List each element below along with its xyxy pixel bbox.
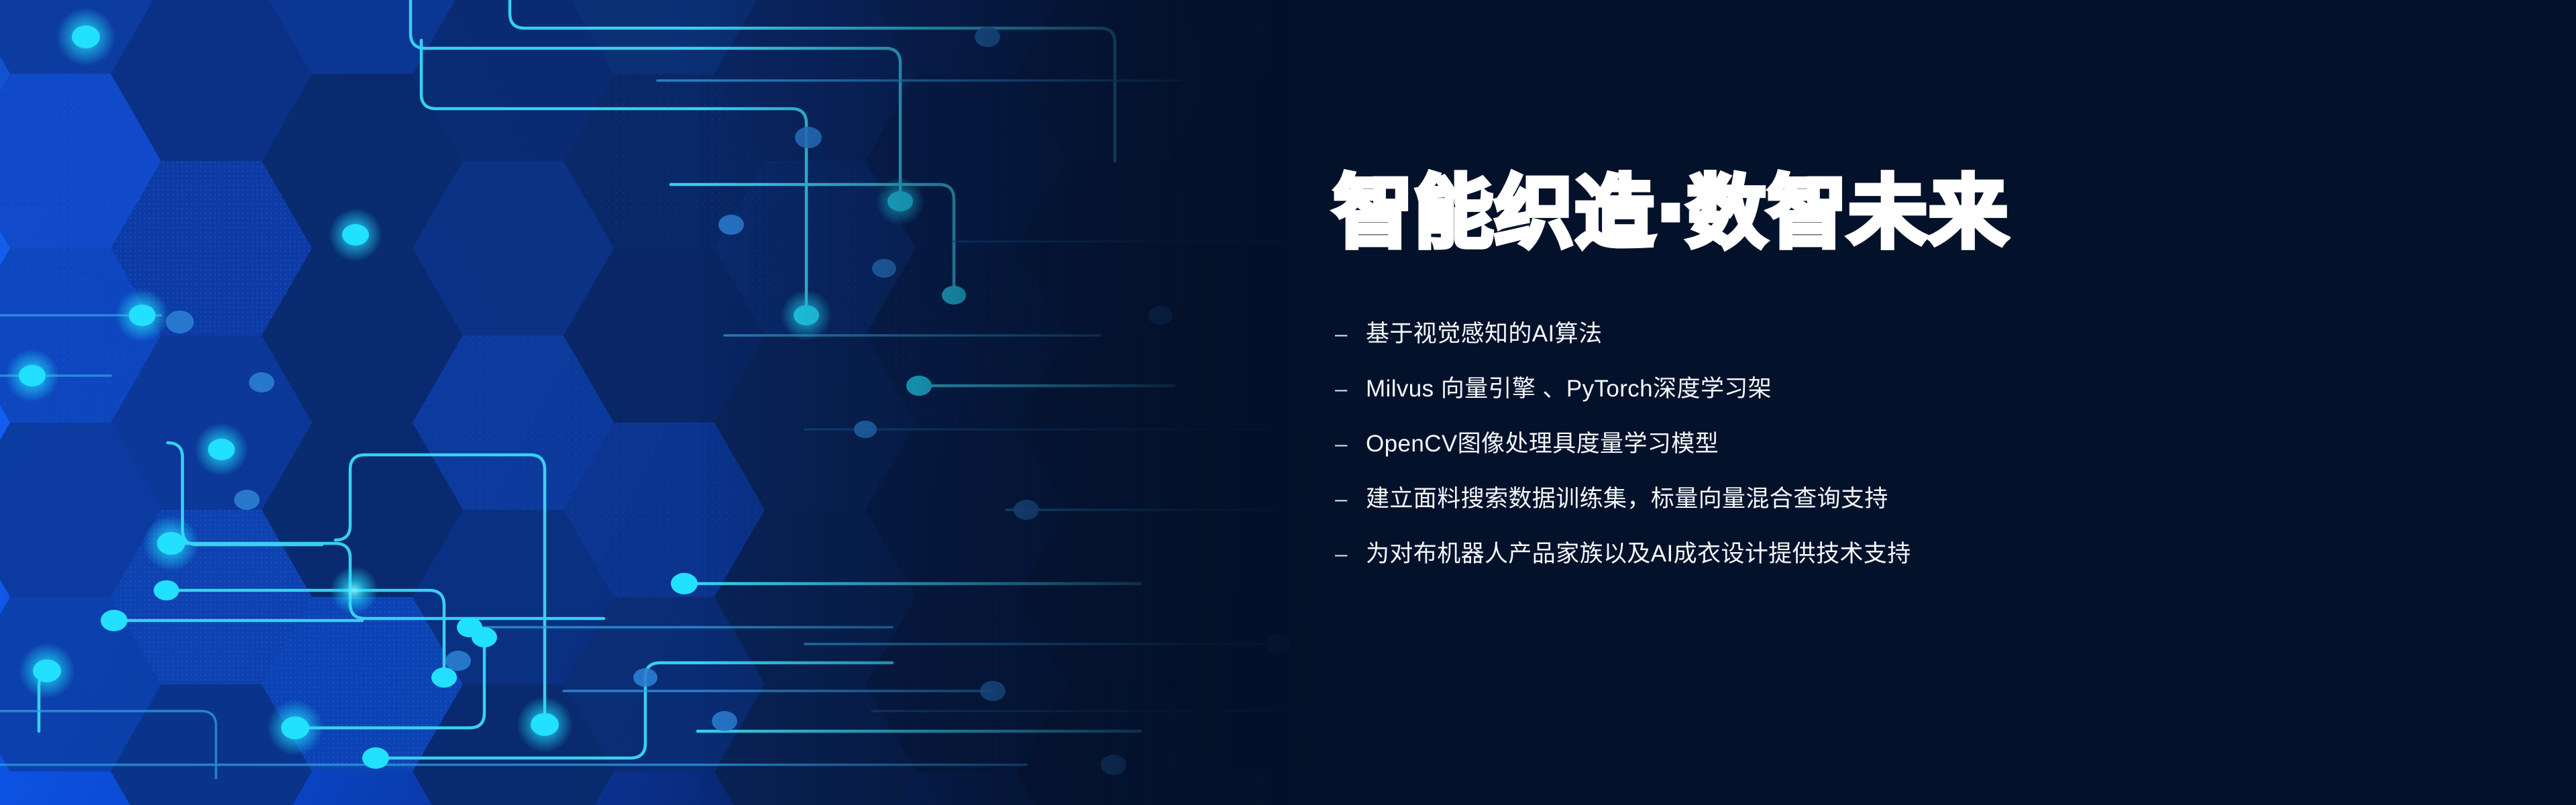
list-item-label: Milvus 向量引擎 、PyTorch深度学习架: [1366, 376, 1772, 402]
bullet-dash-icon: –: [1335, 378, 1352, 400]
list-item: – 为对布机器人产品家族以及AI成衣设计提供技术支持: [1335, 541, 1911, 596]
list-item-label: OpenCV图像处理具度量学习模型: [1366, 431, 1719, 458]
artwork-fade-mask: [0, 0, 1342, 805]
list-item: – 建立面料搜索数据训练集，标量向量混合查询支持: [1335, 486, 1911, 541]
feature-list: – 基于视觉感知的AI算法 – Milvus 向量引擎 、PyTorch深度学习…: [1335, 321, 1911, 596]
page-title: 智能织造·数智未来: [1334, 173, 2009, 252]
list-item-label: 基于视觉感知的AI算法: [1366, 321, 1602, 347]
bullet-dash-icon: –: [1335, 323, 1352, 345]
hero-banner: 智能织造·数智未来 – 基于视觉感知的AI算法 – Milvus 向量引擎 、P…: [0, 0, 2576, 805]
bullet-dash-icon: –: [1335, 488, 1352, 510]
list-item: – Milvus 向量引擎 、PyTorch深度学习架: [1335, 376, 1911, 431]
bullet-dash-icon: –: [1335, 433, 1352, 455]
list-item-label: 建立面料搜索数据训练集，标量向量混合查询支持: [1366, 486, 1888, 513]
list-item: – OpenCV图像处理具度量学习模型: [1335, 431, 1911, 486]
content-column: 智能织造·数智未来 – 基于视觉感知的AI算法 – Milvus 向量引擎 、P…: [1334, 0, 2474, 805]
bullet-dash-icon: –: [1335, 543, 1352, 565]
list-item: – 基于视觉感知的AI算法: [1335, 321, 1911, 376]
list-item-label: 为对布机器人产品家族以及AI成衣设计提供技术支持: [1366, 541, 1911, 568]
hexagon-circuit-graphic: [0, 0, 1342, 805]
